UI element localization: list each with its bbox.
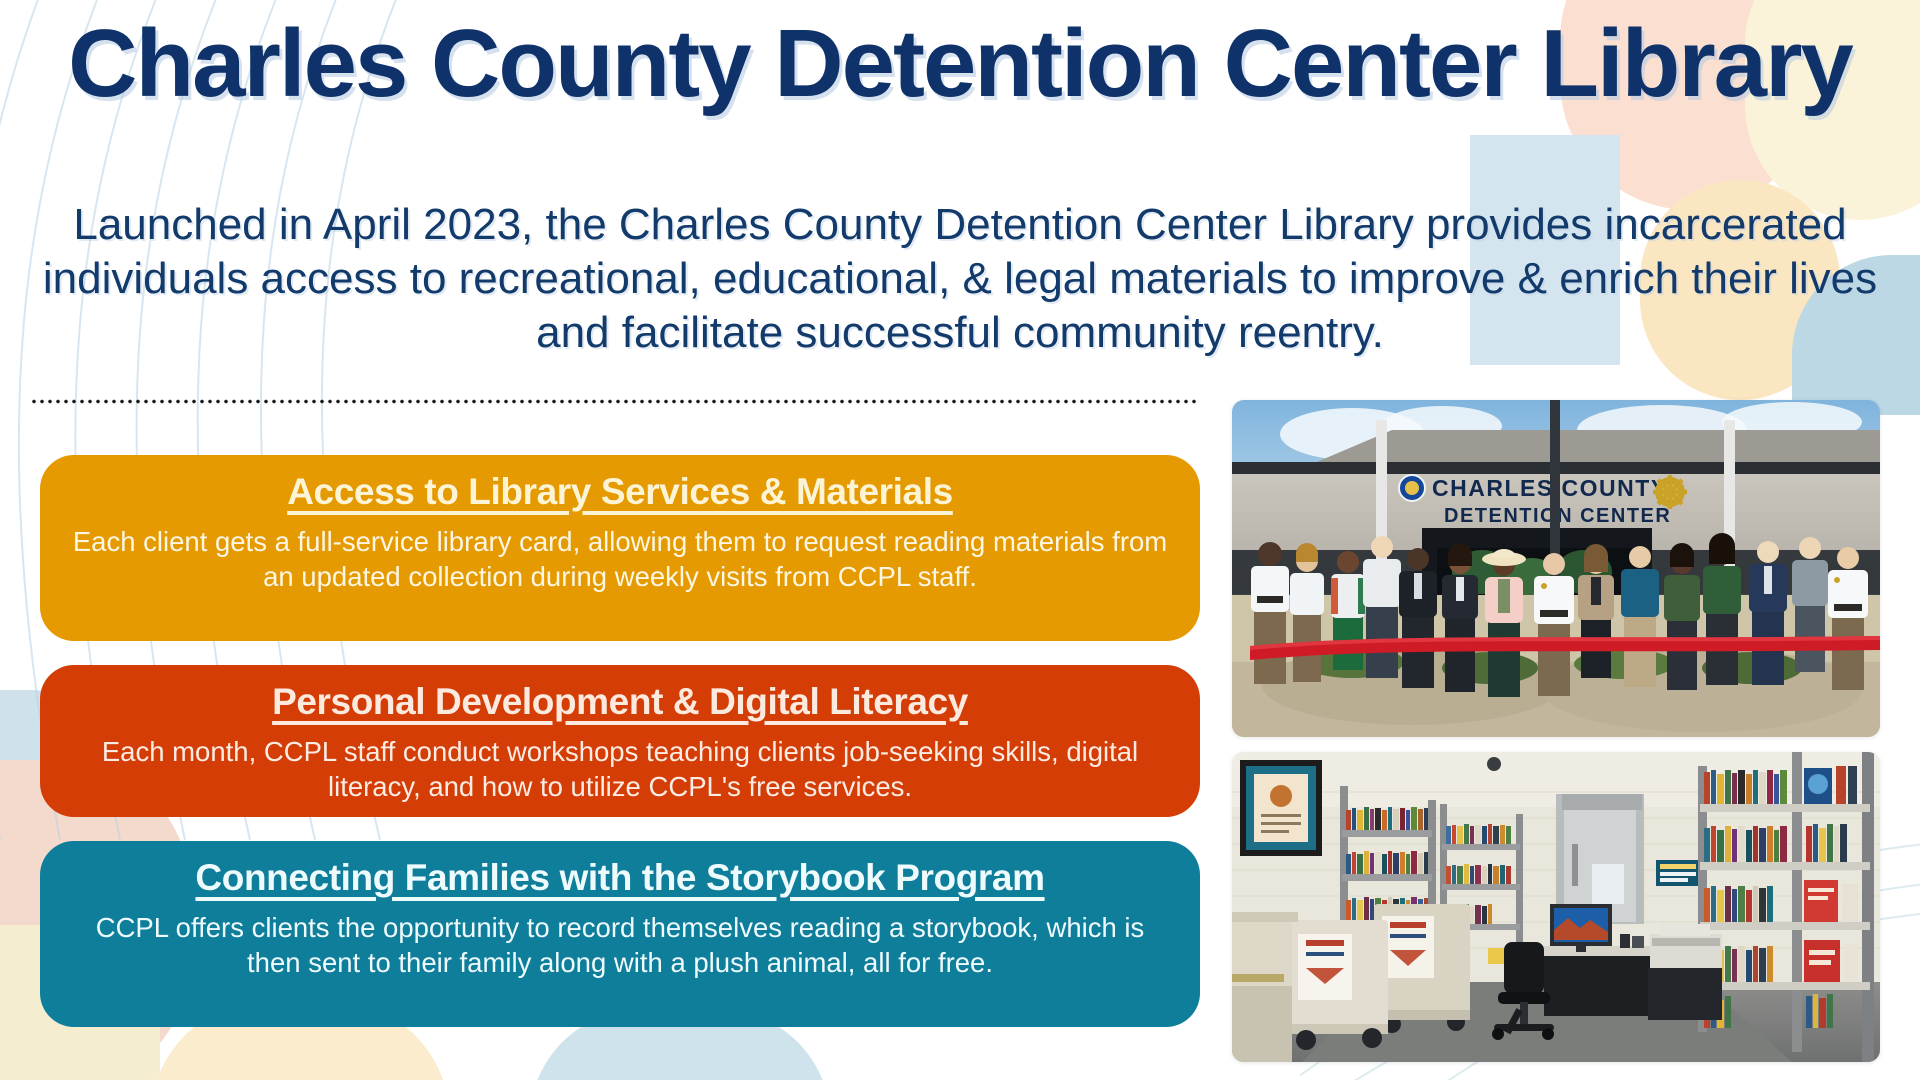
svg-text:CHARLES COUNTY: CHARLES COUNTY bbox=[1432, 475, 1668, 501]
card-access-to-library-services[interactable]: Access to Library Services & Materials E… bbox=[40, 455, 1200, 641]
page-title: Charles County Detention Center Library bbox=[0, 12, 1920, 116]
card-connecting-families-storybook-program[interactable]: Connecting Families with the Storybook P… bbox=[40, 841, 1200, 1027]
ribbon-cutting-illustration: CHARLES COUNTY DETENTION CENTER bbox=[1232, 400, 1880, 737]
card-title: Access to Library Services & Materials bbox=[287, 471, 953, 513]
card-title: Connecting Families with the Storybook P… bbox=[195, 857, 1044, 899]
info-card-list: Access to Library Services & Materials E… bbox=[40, 455, 1200, 1051]
poster-canvas: Charles County Detention Center Library … bbox=[0, 0, 1920, 1080]
page-subtitle: Launched in April 2023, the Charles Coun… bbox=[40, 198, 1880, 360]
card-personal-development-digital-literacy[interactable]: Personal Development & Digital Literacy … bbox=[40, 665, 1200, 817]
photo-ribbon-cutting: CHARLES COUNTY DETENTION CENTER bbox=[1232, 400, 1880, 737]
card-body: Each month, CCPL staff conduct workshops… bbox=[66, 735, 1174, 805]
photo-library-interior bbox=[1232, 752, 1880, 1062]
dotted-divider bbox=[30, 399, 1198, 404]
card-title: Personal Development & Digital Literacy bbox=[272, 681, 968, 723]
library-interior-illustration bbox=[1232, 752, 1880, 1062]
card-body: CCPL offers clients the opportunity to r… bbox=[66, 911, 1174, 981]
card-body: Each client gets a full-service library … bbox=[66, 525, 1174, 595]
